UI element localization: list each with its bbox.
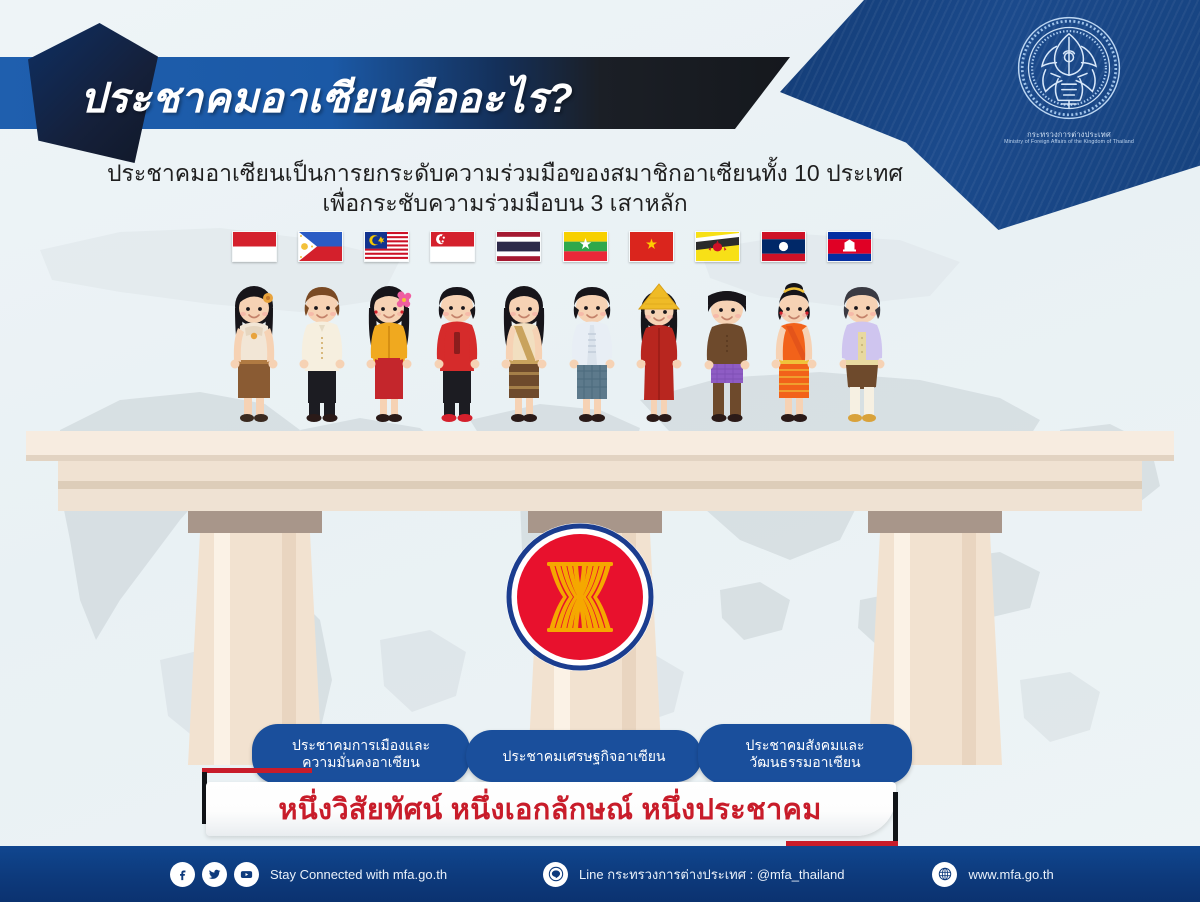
facebook-icon[interactable] xyxy=(170,862,195,887)
tagline-banner: หนึ่งวิสัยทัศน์ หนึ่งเอกลักษณ์ หนึ่งประช… xyxy=(186,778,914,840)
page-title: ประชาคมอาเซียนคืออะไร? xyxy=(80,66,573,131)
person-myanmar xyxy=(560,276,624,424)
pillar-2-line-2: วัฒนธรรมอาเซียน xyxy=(749,754,860,770)
globe-icon[interactable] xyxy=(932,862,957,887)
philippines-flag xyxy=(298,231,343,262)
pillar-1-line-1: ประชาคมเศรษฐกิจอาเซียน xyxy=(502,748,665,765)
pillar-2-line-1: ประชาคมสังคมและ xyxy=(746,737,865,753)
person-cambodia xyxy=(830,276,894,424)
bracket-right-black-bar xyxy=(893,792,898,846)
footer-bar: Stay Connected with mfa.go.th Line กระทร… xyxy=(0,846,1200,902)
malaysia-flag xyxy=(364,231,409,262)
youtube-icon[interactable] xyxy=(234,862,259,887)
mfa-name-en: Ministry of Foreign Affairs of the Kingd… xyxy=(996,139,1142,145)
person-laos xyxy=(762,276,826,424)
tagline-text: หนึ่งวิสัยทัศน์ หนึ่งเอกลักษณ์ หนึ่งประช… xyxy=(186,778,914,840)
footer-web-group: www.mfa.go.th xyxy=(932,862,1053,887)
vietnam-flag xyxy=(629,231,674,262)
pillar-label-economic[interactable]: ประชาคมเศรษฐกิจอาเซียน xyxy=(466,730,702,782)
person-philippines xyxy=(290,276,354,424)
mfa-name-th: กระทรวงการต่างประเทศ xyxy=(996,130,1142,139)
footer-line-group: Line กระทรวงการต่างประเทศ : @mfa_thailan… xyxy=(543,862,844,887)
person-singapore xyxy=(425,276,489,424)
mfa-logo: กระทรวงการต่างประเทศ Ministry of Foreign… xyxy=(996,14,1142,145)
footer-line-text: Line กระทรวงการต่างประเทศ : @mfa_thailan… xyxy=(579,864,844,885)
pillar-0-line-1: ประชาคมการเมืองและ xyxy=(292,737,430,753)
singapore-flag xyxy=(430,231,475,262)
myanmar-flag xyxy=(563,231,608,262)
intro-line-1: ประชาคมอาเซียนเป็นการยกระดับความร่วมมือข… xyxy=(0,158,1010,188)
line-icon[interactable] xyxy=(543,862,568,887)
footer-connect-text: Stay Connected with mfa.go.th xyxy=(270,867,447,882)
cambodia-flag xyxy=(827,231,872,262)
intro-line-2: เพื่อกระชับความร่วมมือบน 3 เสาหลัก xyxy=(0,188,1010,218)
bracket-top-red-line xyxy=(202,768,312,773)
laos-flag xyxy=(761,231,806,262)
mfa-seal-icon xyxy=(1015,14,1123,122)
indonesia-flag xyxy=(232,231,277,262)
person-malaysia xyxy=(357,276,421,424)
twitter-icon[interactable] xyxy=(202,862,227,887)
temple-top-slab xyxy=(26,431,1174,457)
person-brunei xyxy=(695,276,759,424)
pillar-label-socio-cultural[interactable]: ประชาคมสังคมและ วัฒนธรรมอาเซียน xyxy=(698,724,912,784)
header-ribbon: ประชาคมอาเซียนคืออะไร? xyxy=(0,57,790,129)
asean-people-row xyxy=(222,274,894,424)
infographic-canvas: กระทรวงการต่างประเทศ Ministry of Foreign… xyxy=(0,0,1200,902)
intro-paragraph: ประชาคมอาเซียนเป็นการยกระดับความร่วมมือข… xyxy=(0,158,1010,219)
asean-emblem-icon xyxy=(505,522,655,672)
pillar-0-line-2: ความมั่นคงอาเซียน xyxy=(302,754,420,770)
brunei-flag xyxy=(695,231,740,262)
footer-web-text: www.mfa.go.th xyxy=(968,867,1053,882)
person-indonesia xyxy=(222,276,286,424)
footer-social-group: Stay Connected with mfa.go.th xyxy=(170,862,447,887)
thailand-flag xyxy=(496,231,541,262)
pillar-label-political-security[interactable]: ประชาคมการเมืองและ ความมั่นคงอาเซียน xyxy=(252,724,470,784)
person-vietnam xyxy=(627,276,691,424)
asean-flags-row xyxy=(232,231,872,262)
person-thailand xyxy=(492,276,556,424)
